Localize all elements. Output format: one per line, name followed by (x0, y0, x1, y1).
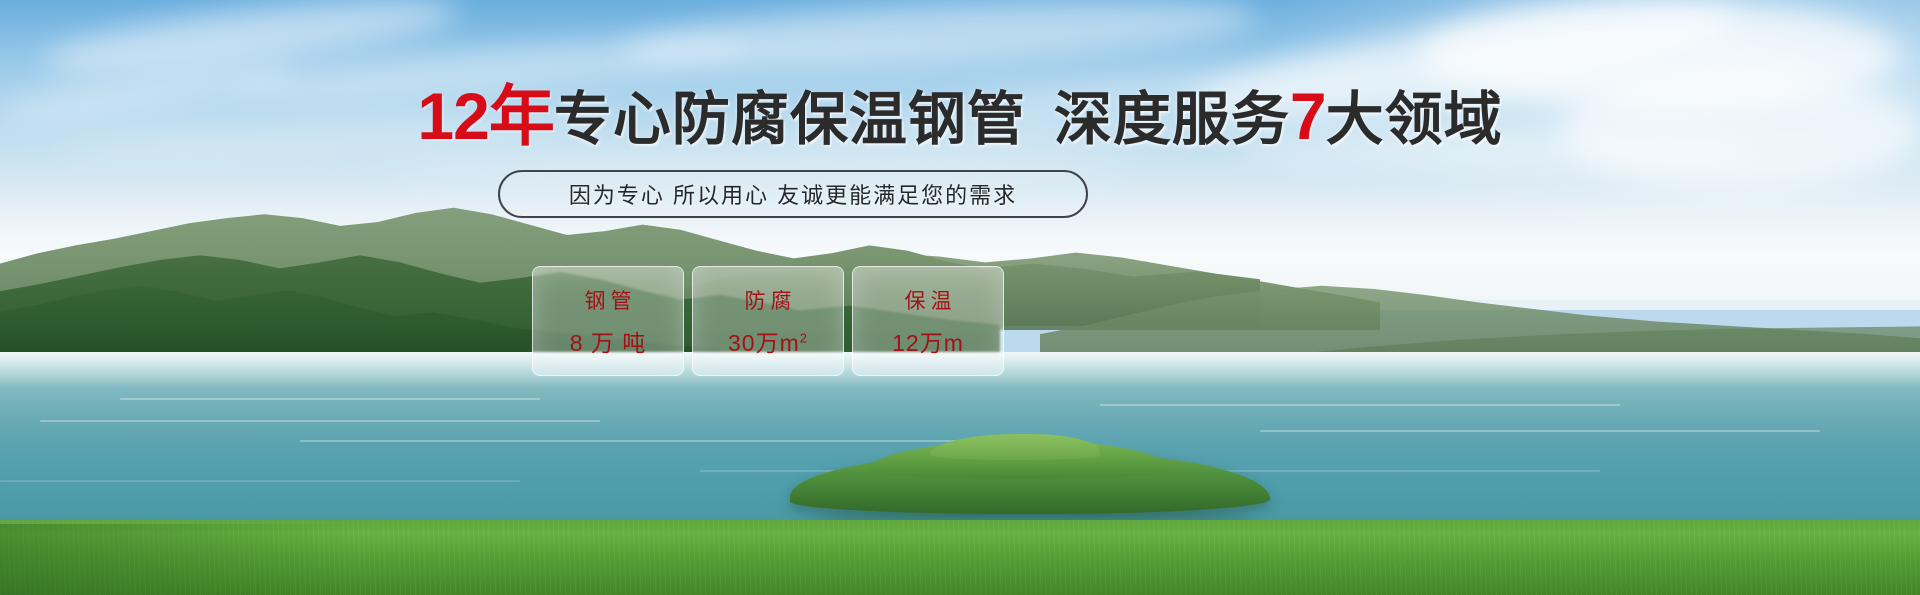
banner-subtitle-pill: 因为专心 所以用心 友诚更能满足您的需求 (498, 170, 1088, 218)
stat-card-anticorrosion[interactable]: 防腐 30万m2 (692, 266, 844, 376)
stat-card-label: 钢管 (580, 285, 637, 315)
headline-years-number: 12 (417, 79, 488, 153)
stat-card-value-text: 30万m (728, 330, 800, 356)
banner-subtitle-text: 因为专心 所以用心 友诚更能满足您的需求 (569, 178, 1017, 210)
stat-card-value: 8 万 吨 (570, 324, 647, 358)
stats-card-group: 钢管 8 万 吨 防腐 30万m2 保温 12万m (532, 266, 1004, 376)
banner-content: 12年专心防腐保温钢管深度服务7大领域 因为专心 所以用心 友诚更能满足您的需求… (0, 0, 1920, 595)
banner-headline: 12年专心防腐保温钢管深度服务7大领域 (0, 86, 1920, 150)
stat-card-value-text: 8 万 吨 (570, 330, 647, 356)
stat-card-insulation[interactable]: 保温 12万m (852, 266, 1004, 376)
headline-years-unit: 年 (489, 79, 554, 153)
headline-fields-text: 大领域 (1326, 87, 1503, 152)
stat-card-value-text: 12万m (892, 330, 964, 356)
stat-card-value-superscript: 2 (800, 330, 808, 345)
stat-card-value: 30万m2 (728, 324, 808, 358)
stat-card-steel-pipe[interactable]: 钢管 8 万 吨 (532, 266, 684, 376)
headline-main-text: 专心防腐保温钢管 (554, 87, 1026, 152)
headline-service-text: 深度服务 (1054, 87, 1290, 152)
hero-banner: 12年专心防腐保温钢管深度服务7大领域 因为专心 所以用心 友诚更能满足您的需求… (0, 0, 1920, 595)
stat-card-value: 12万m (892, 324, 964, 358)
stat-card-label: 防腐 (740, 285, 797, 315)
stat-card-label: 保温 (900, 285, 957, 315)
headline-fields-number: 7 (1290, 79, 1326, 153)
